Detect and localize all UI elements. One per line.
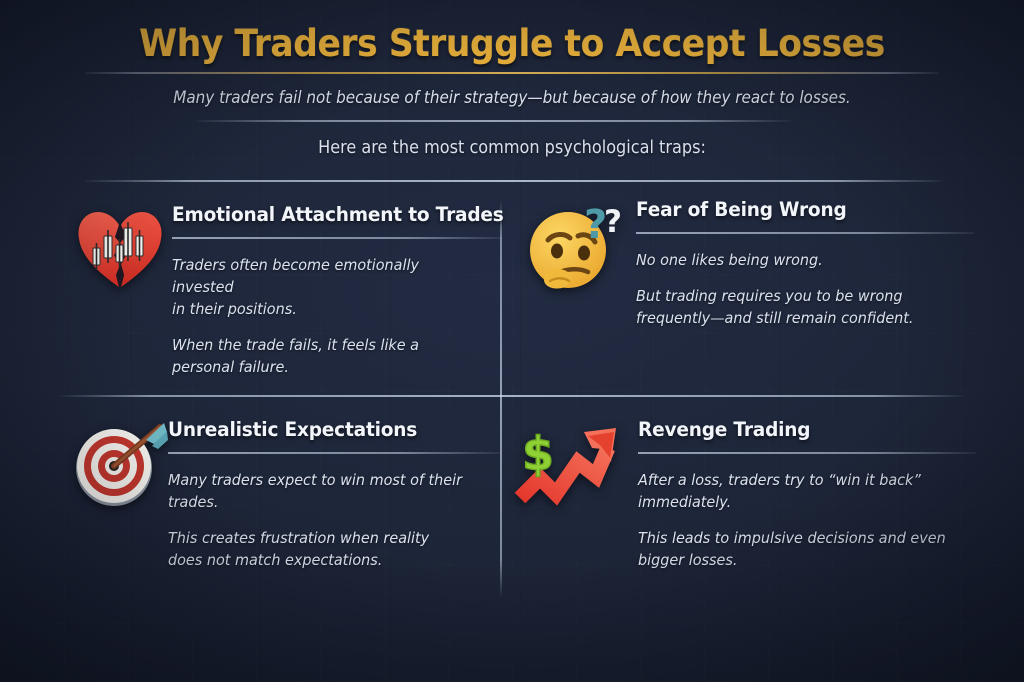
trap-card-content: Revenge Trading After a loss, traders tr… xyxy=(638,418,982,571)
grid-divider-vertical xyxy=(500,200,502,598)
trap-line: Many traders expect to win most of their… xyxy=(168,469,480,513)
trap-title: Unrealistic Expectations xyxy=(168,418,483,441)
trap-card-revenge-trading: $ Revenge Trading After a loss, traders … xyxy=(512,418,982,571)
header-divider xyxy=(85,180,943,182)
trap-description: Traders often become emotionally investe… xyxy=(172,254,500,378)
subtitle-divider xyxy=(196,120,790,122)
trap-line: This creates frustration when reality do… xyxy=(168,527,480,571)
title-divider xyxy=(85,72,939,74)
trap-card-content: Emotional Attachment to Trades Traders o… xyxy=(172,203,500,378)
svg-text:$: $ xyxy=(522,427,554,481)
trap-description: After a loss, traders try to “win it bac… xyxy=(638,469,982,571)
grid-divider-horizontal xyxy=(60,395,965,397)
trap-line: When the trade fails, it feels like a pe… xyxy=(172,334,480,378)
page-title: Why Traders Struggle to Accept Losses xyxy=(36,22,988,65)
trap-line: Traders often become emotionally investe… xyxy=(172,254,480,320)
trap-title-underline xyxy=(636,232,974,234)
svg-text:?: ? xyxy=(604,204,622,240)
trap-card-content: Unrealistic Expectations Many traders ex… xyxy=(168,418,500,571)
subtitle-text: Many traders fail not because of their s… xyxy=(41,88,983,107)
trap-line: This leads to impulsive decisions and ev… xyxy=(638,527,961,571)
trap-title: Revenge Trading xyxy=(638,418,965,441)
trap-card-unrealistic-expectations: Unrealistic Expectations Many traders ex… xyxy=(68,418,500,571)
trap-card-content: Fear of Being Wrong No one likes being w… xyxy=(636,198,982,329)
trap-title-underline xyxy=(638,452,976,454)
infographic-canvas: Why Traders Struggle to Accept Losses Ma… xyxy=(0,0,1024,682)
trap-card-emotional-attachment: Emotional Attachment to Trades Traders o… xyxy=(72,203,500,378)
trap-description: Many traders expect to win most of their… xyxy=(168,469,500,571)
trap-title-underline xyxy=(172,237,502,239)
trap-title-underline xyxy=(168,452,500,454)
trap-title: Fear of Being Wrong xyxy=(636,198,965,221)
trap-line: No one likes being wrong. xyxy=(636,249,961,271)
broken-heart-candlestick-icon xyxy=(72,203,168,295)
rising-arrow-dollar-icon: $ xyxy=(512,418,628,514)
trap-description: No one likes being wrong. But trading re… xyxy=(636,249,982,329)
trap-line: After a loss, traders try to “win it bac… xyxy=(638,469,961,513)
trap-title: Emotional Attachment to Trades xyxy=(172,203,484,226)
trap-line: But trading requires you to be wrong fre… xyxy=(636,285,961,329)
bullseye-target-arrow-icon xyxy=(68,418,168,512)
thinking-face-question-marks-icon: ? ? xyxy=(524,198,630,298)
lead-text: Here are the most common psychological t… xyxy=(41,138,983,158)
trap-card-fear-of-being-wrong: ? ? Fear of Being Wrong No one likes bei… xyxy=(524,198,982,329)
